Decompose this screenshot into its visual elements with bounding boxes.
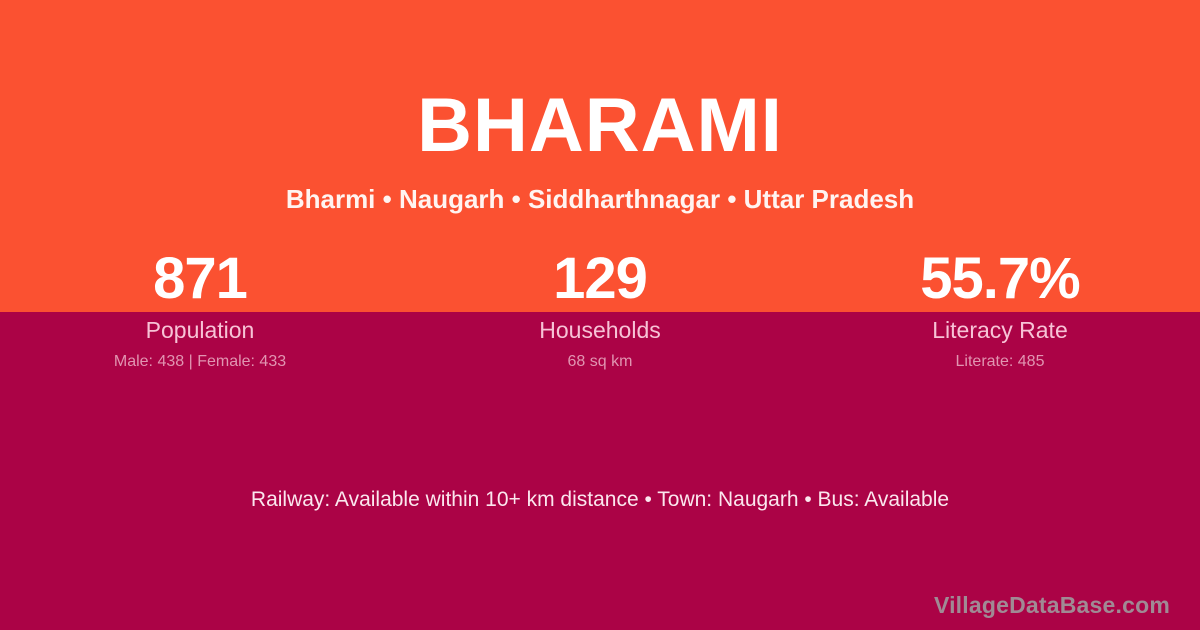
facilities-summary: Railway: Available within 10+ km distanc… [0,486,1200,514]
stat-detail: 68 sq km [400,352,800,372]
stat-label: Households [400,316,800,344]
stat-literacy-rate: 55.7% Literacy Rate Literate: 485 [800,246,1200,372]
village-info-card: BHARAMI Bharmi • Naugarh • Siddharthnaga… [0,0,1200,630]
stats-row: 871 Population Male: 438 | Female: 433 1… [0,246,1200,372]
card-content: BHARAMI Bharmi • Naugarh • Siddharthnaga… [0,0,1200,630]
stat-value: 55.7% [800,246,1200,312]
stat-value: 129 [400,246,800,312]
page-title: BHARAMI [0,84,1200,168]
stat-label: Literacy Rate [800,316,1200,344]
stat-value: 871 [0,246,400,312]
stat-detail: Literate: 485 [800,352,1200,372]
stat-households: 129 Households 68 sq km [400,246,800,372]
stat-detail: Male: 438 | Female: 433 [0,352,400,372]
site-watermark: VillageDataBase.com [934,590,1170,620]
stat-label: Population [0,316,400,344]
stat-population: 871 Population Male: 438 | Female: 433 [0,246,400,372]
breadcrumb: Bharmi • Naugarh • Siddharthnagar • Utta… [0,182,1200,216]
